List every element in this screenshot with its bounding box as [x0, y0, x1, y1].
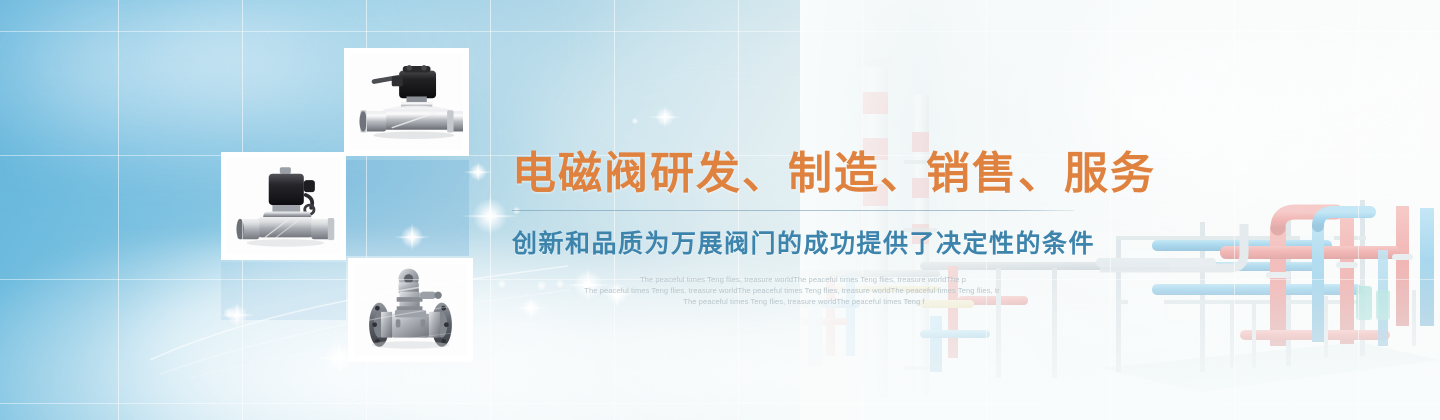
product-image-solenoid-valve-threaded-manual-override: [227, 158, 340, 254]
bokeh-dot-4: [498, 280, 506, 288]
headline-divider: [512, 210, 1074, 211]
product-thumbnail-3[interactable]: [348, 258, 473, 362]
product-image-solenoid-valve-flanged: [354, 264, 467, 356]
filler-line-1: The peaceful times Teng flies, treasure …: [512, 274, 1072, 285]
banner-filler-text: The peaceful times Teng flies, treasure …: [512, 274, 1072, 307]
banner-subheadline: 创新和品质为万展阀门的成功提供了决定性的条件: [512, 224, 1112, 260]
hero-banner: 电磁阀研发、制造、销售、服务 创新和品质为万展阀门的成功提供了决定性的条件 Th…: [0, 0, 1440, 420]
product-thumbnail-2[interactable]: [221, 152, 346, 260]
banner-copy: 电磁阀研发、制造、销售、服务 创新和品质为万展阀门的成功提供了决定性的条件 Th…: [512, 150, 1112, 307]
filler-line-2: The peaceful times Teng flies, treasure …: [512, 285, 1072, 296]
banner-headline: 电磁阀研发、制造、销售、服务: [512, 150, 1112, 198]
product-thumbnail-1[interactable]: [344, 48, 469, 156]
product-image-solenoid-valve-threaded-black-coil: [350, 54, 463, 150]
sparkle-icon-1: [470, 196, 510, 236]
sparkle-icon-9: [225, 303, 249, 327]
sparkle-icon-2: [399, 224, 425, 250]
filler-line-3: The peaceful times Teng flies, treasure …: [512, 296, 1072, 307]
bokeh-dot-6: [224, 308, 234, 318]
bokeh-dot-5: [632, 118, 638, 124]
sparkle-icon-6: [654, 106, 676, 128]
accent-tile-2: [221, 262, 346, 320]
accent-tile-1: [344, 160, 469, 256]
sparkle-icon-7: [468, 162, 488, 182]
